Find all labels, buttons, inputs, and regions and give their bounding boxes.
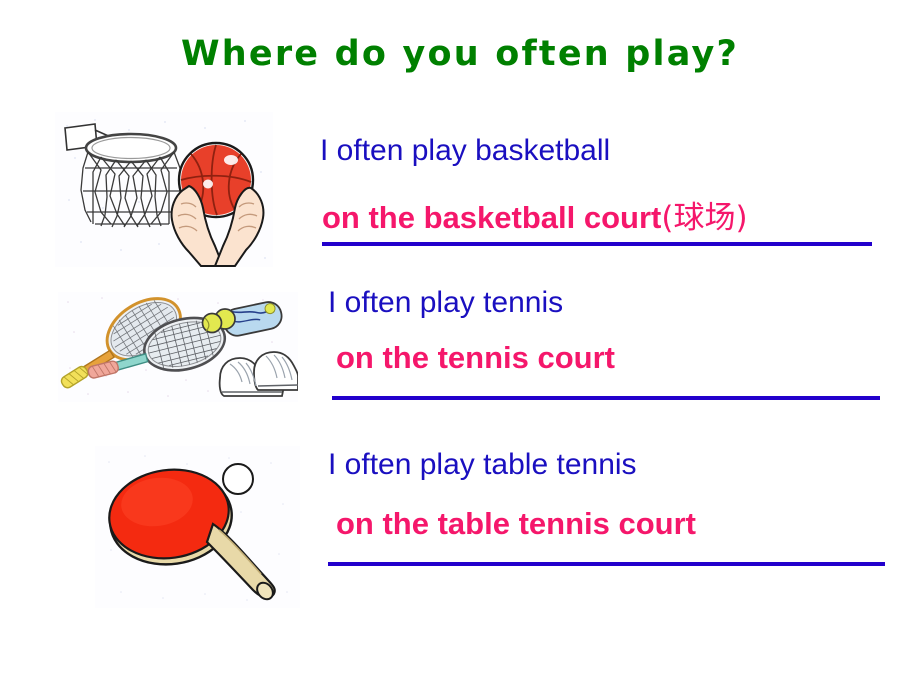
- blank-rule-basketball: [322, 242, 872, 246]
- blank-rule-tennis: [332, 396, 880, 400]
- blank-rule-table-tennis: [328, 562, 885, 566]
- page-title: Where do you often play?: [0, 34, 920, 74]
- content-row-table-tennis: I often play table tennis on the table t…: [0, 438, 920, 618]
- content-row-tennis: I often play tennis on the tennis court: [0, 286, 920, 408]
- answer-text-tennis: on the tennis court: [336, 340, 615, 376]
- answer-text-basketball: on the basketball court(球场): [322, 192, 748, 237]
- slide-canvas: Where do you often play?: [0, 0, 920, 690]
- prompt-text-tennis: I often play tennis: [328, 286, 563, 320]
- answer-chinese-gloss: (球场): [661, 200, 747, 236]
- tennis-rackets-balls-and-sneakers-clipart: [58, 292, 298, 402]
- content-row-basketball: I often play basketball on the basketbal…: [0, 108, 920, 278]
- basketball-hoop-and-hands-holding-ball-clipart: [55, 112, 273, 267]
- answer-english: on the basketball court: [322, 200, 661, 235]
- prompt-text-basketball: I often play basketball: [320, 134, 610, 168]
- table-tennis-paddle-and-ball-clipart: [95, 446, 300, 608]
- answer-text-table-tennis: on the table tennis court: [336, 506, 696, 542]
- prompt-text-table-tennis: I often play table tennis: [328, 448, 637, 482]
